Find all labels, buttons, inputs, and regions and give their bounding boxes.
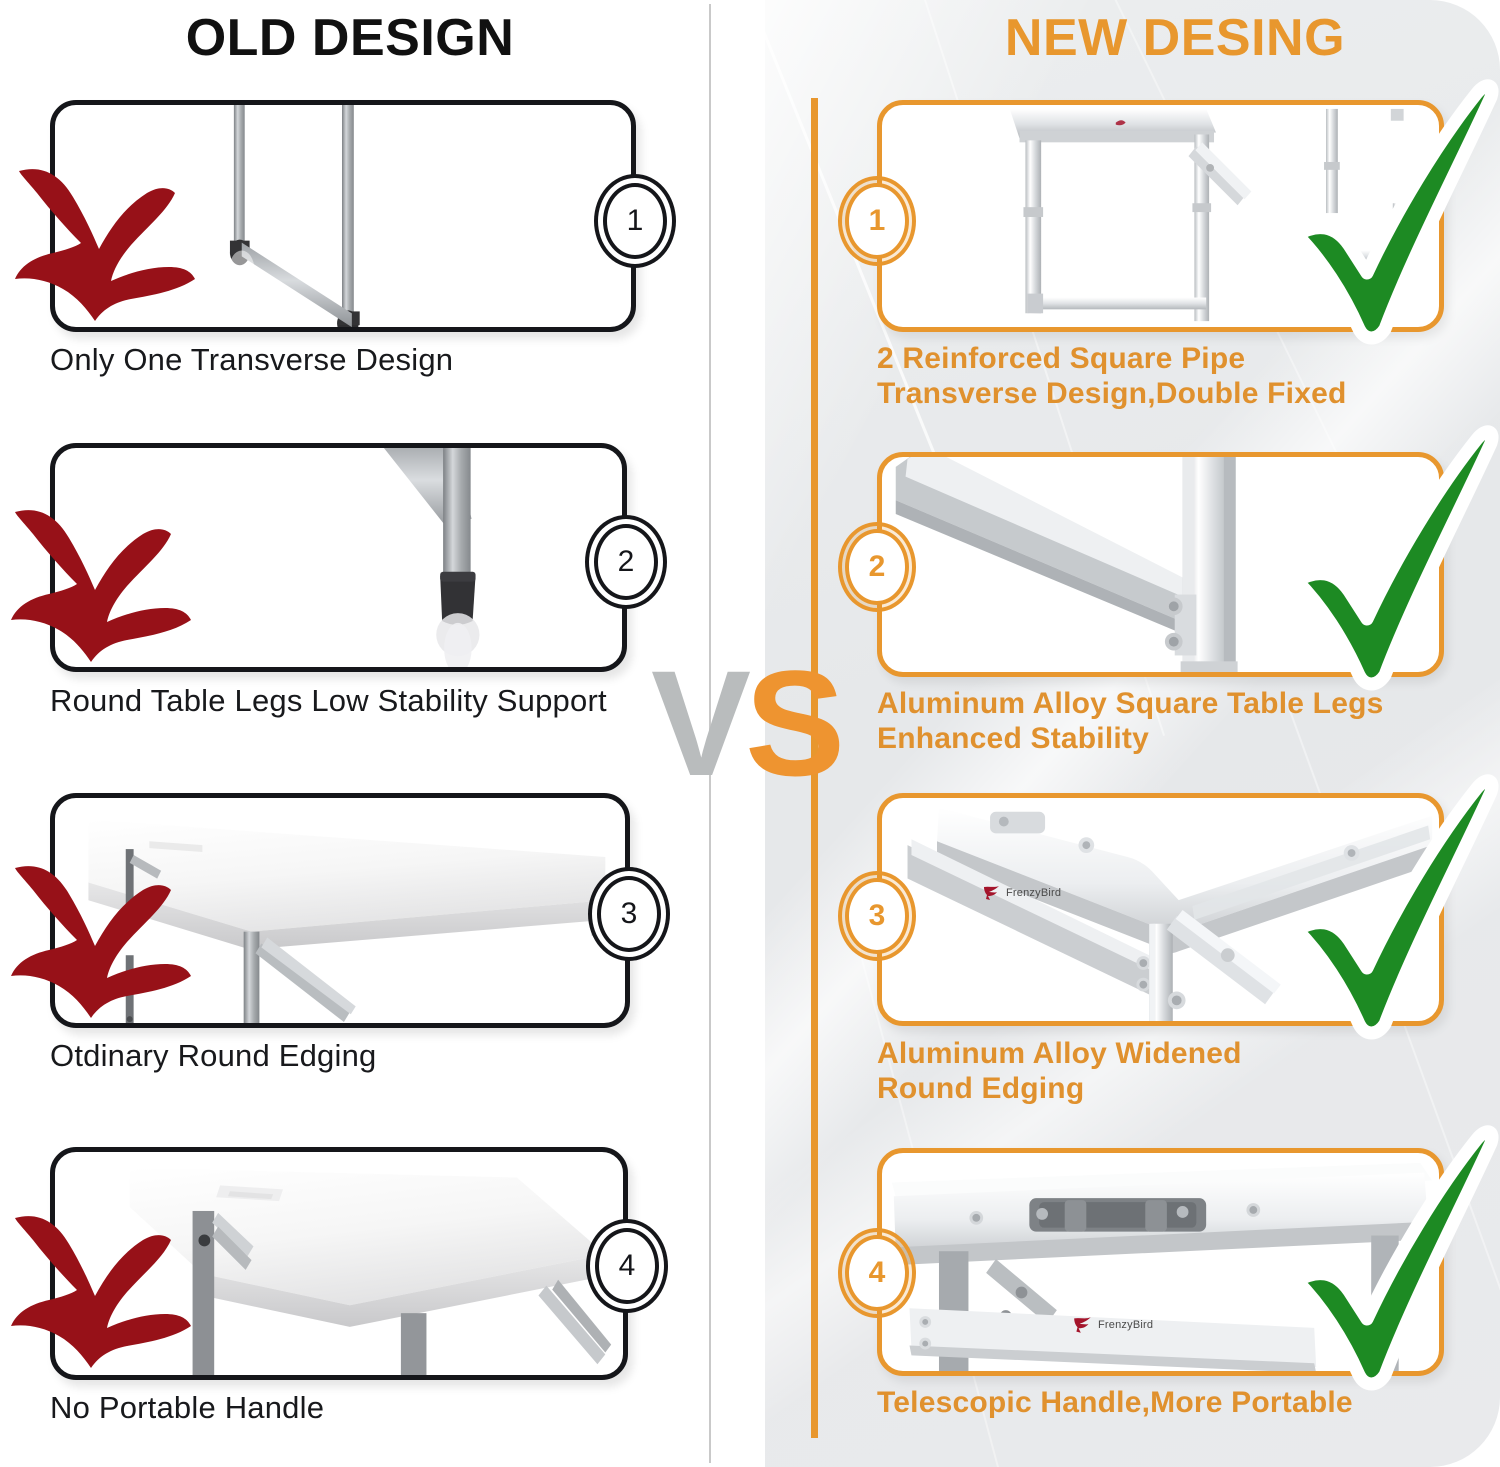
new-caption-3: Aluminum Alloy Widened Round Edging <box>877 1036 1242 1107</box>
old-badge-4: 4 <box>595 1228 659 1304</box>
new-badge-4: 4 <box>845 1235 909 1311</box>
old-caption-4: No Portable Handle <box>50 1389 324 1427</box>
new-panel-4: FrenzyBird 4 <box>877 1148 1444 1376</box>
frenzybird-bird-icon <box>1072 1315 1094 1335</box>
new-panel-3: FrenzyBird 3 <box>877 793 1444 1026</box>
green-check-icon <box>1261 413 1500 693</box>
old-panel-3: 3 <box>50 793 630 1028</box>
old-badge-1: 1 <box>603 183 667 259</box>
old-panel-4: 4 <box>50 1147 628 1380</box>
versus-v: V <box>651 639 745 807</box>
new-design-column: NEW DESING <box>765 0 1500 1467</box>
new-badge-1: 1 <box>845 183 909 259</box>
versus-badge: VS <box>651 638 861 808</box>
old-caption-1: Only One Transverse Design <box>50 341 453 379</box>
old-design-column: OLD DESIGN <box>0 0 755 1467</box>
new-panel-1: 1 <box>877 100 1444 332</box>
brand-logo: FrenzyBird <box>982 884 1061 902</box>
new-caption-1: 2 Reinforced Square Pipe Transverse Desi… <box>877 341 1347 412</box>
old-caption-2: Round Table Legs Low Stability Support <box>50 682 607 720</box>
old-badge-3: 3 <box>597 876 661 952</box>
new-badge-2: 2 <box>845 529 909 605</box>
old-design-title: OLD DESIGN <box>0 8 700 68</box>
red-x-icon <box>3 860 203 1035</box>
new-badge-3: 3 <box>845 878 909 954</box>
red-x-icon <box>7 163 207 338</box>
green-check-icon <box>1261 762 1500 1042</box>
old-caption-3: Otdinary Round Edging <box>50 1037 376 1075</box>
old-panel-1: 1 <box>50 100 636 332</box>
new-design-title: NEW DESING <box>850 8 1500 68</box>
new-panel-2: 2 <box>877 452 1444 677</box>
green-check-icon <box>1261 1113 1500 1393</box>
red-x-icon <box>3 1210 203 1385</box>
brand-name: FrenzyBird <box>1006 887 1061 899</box>
brand-name: FrenzyBird <box>1098 1319 1153 1331</box>
old-badge-2: 2 <box>594 524 658 600</box>
green-check-icon <box>1261 67 1500 347</box>
comparison-infographic: OLD DESIGN <box>0 0 1500 1467</box>
old-panel-2: 2 <box>50 443 627 672</box>
brand-logo: FrenzyBird <box>1072 1315 1153 1335</box>
frenzybird-bird-icon <box>982 884 1002 902</box>
red-x-icon <box>3 504 203 679</box>
new-caption-2: Aluminum Alloy Square Table Legs Enhance… <box>877 686 1383 757</box>
versus-s: S <box>745 639 839 807</box>
